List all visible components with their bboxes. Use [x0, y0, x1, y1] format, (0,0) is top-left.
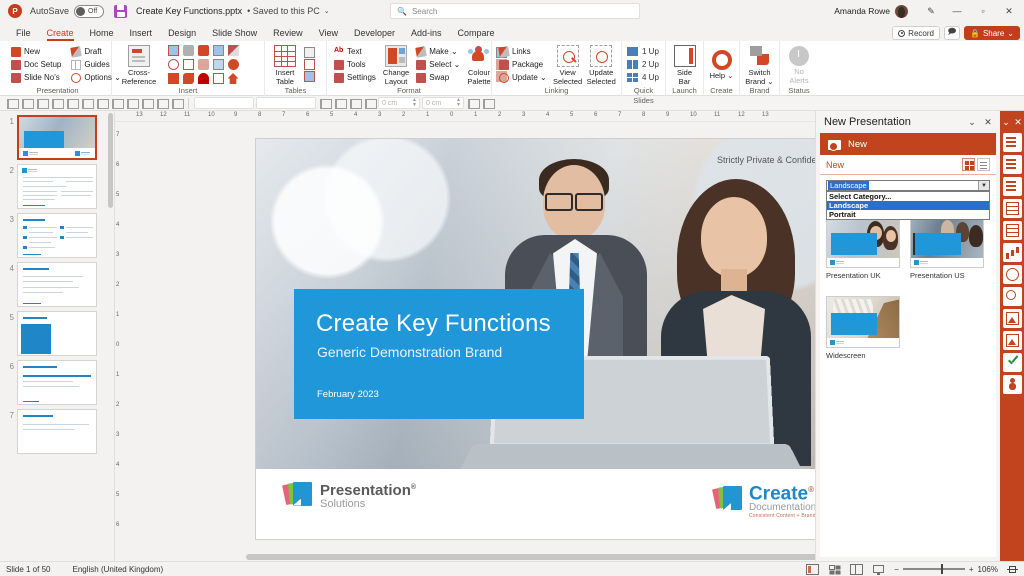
button-new-label: New [24, 47, 40, 56]
ruler-tick: 5 [330, 112, 333, 118]
ribbon-group-insert: Cross-Reference [112, 41, 265, 96]
two-up-icon [627, 60, 638, 69]
indent-icon[interactable] [318, 97, 331, 109]
reading-view-icon[interactable] [850, 564, 863, 575]
new-doc-icon [828, 138, 842, 151]
zoom-slider-handle[interactable] [941, 564, 943, 574]
template-caption: Presentation US [910, 271, 984, 280]
make-icon [415, 46, 427, 58]
task-pane-section-label: New [826, 160, 960, 170]
tab-view[interactable]: View [311, 28, 346, 41]
search-icon: 🔍 [397, 7, 407, 16]
thumbnail-scrollbar-thumb[interactable] [108, 113, 113, 208]
button-insert-table[interactable]: Insert Table [270, 43, 300, 86]
horizontal-scrollbar-thumb[interactable] [246, 554, 815, 560]
template-title-block [831, 313, 877, 335]
create-wordmark: Create® Documentation Consistent Content… [749, 481, 815, 519]
insert-screenshot-icon[interactable] [213, 59, 224, 70]
tab-slide-show[interactable]: Slide Show [204, 28, 265, 41]
spacing-h-value: 0 cm [382, 100, 397, 107]
thumbnail-logo-left-icon [23, 151, 39, 156]
tab-add-ins[interactable]: Add-ins [403, 28, 450, 41]
language-indicator[interactable]: English (United Kingdom) [72, 565, 163, 574]
ribbon-display-options-icon[interactable]: ✎ [918, 0, 944, 22]
zoom-slider[interactable] [903, 568, 965, 569]
logo-right-line3: Consistent Content + Branding [749, 513, 815, 519]
ruler-tick: 10 [208, 112, 215, 118]
button-switch-brand[interactable]: Switch Brand ⌄ [745, 43, 774, 86]
dropdown-option-landscape[interactable]: Landscape [827, 201, 989, 210]
button-1-up-label: 1 Up [642, 47, 659, 56]
woman-head [701, 197, 767, 277]
laptop-keyboard [458, 444, 804, 469]
button-swap[interactable]: Swap [414, 72, 462, 84]
ribbon-group-brand: Switch Brand ⌄ Brand [740, 41, 780, 96]
insert-home-icon[interactable] [228, 73, 239, 84]
text-icon: Ab [334, 47, 344, 57]
insert-calendar-icon[interactable] [213, 73, 224, 84]
ruler-tick: 7 [282, 112, 285, 118]
settings-icon [334, 73, 344, 83]
button-no-alerts: No Alerts [785, 44, 813, 85]
ruler-tick: 8 [258, 112, 261, 118]
slide-canvas[interactable]: Strictly Private & Confidential Create K… [126, 122, 815, 561]
ribbon-group-status-label: Status [785, 86, 813, 96]
title-placeholder[interactable]: Create Key Functions Generic Demonstrati… [294, 289, 584, 419]
slide-numbers-icon [11, 73, 21, 83]
ruler-tick: 4 [546, 112, 549, 118]
thumbnail-item-5[interactable]: 5 [0, 307, 114, 356]
alerts-clock-icon [789, 46, 809, 66]
create-documentation-logo: Create® Documentation Consistent Content… [714, 481, 815, 519]
tab-insert[interactable]: Insert [122, 28, 161, 41]
grid-icon[interactable] [1003, 221, 1022, 240]
button-slide-numbers[interactable]: Slide No's [9, 72, 63, 84]
ruler-tick: 2 [116, 282, 119, 288]
ruler-tick: 1 [116, 372, 119, 378]
thumbnail-slide-1[interactable] [17, 115, 97, 160]
link-tool-icon[interactable] [466, 97, 479, 109]
zoom-control: − + 106% [894, 565, 998, 574]
approve-icon[interactable] [1003, 353, 1022, 372]
ruler-tick: 12 [738, 112, 745, 118]
doc-setup-icon [11, 60, 21, 70]
logo-left-line1: Presentation® [320, 481, 416, 498]
fit-slide-icon[interactable] [1007, 564, 1018, 575]
comment-icon: 🗩 [948, 26, 957, 40]
pie-icon[interactable] [1003, 265, 1022, 284]
autosave-toggle[interactable]: Off [74, 5, 104, 18]
search-placeholder: Search [412, 7, 437, 16]
document-name[interactable]: Create Key Functions.pptx [136, 6, 242, 16]
ruler-tick: 11 [184, 112, 190, 118]
insert-icon-gallery [166, 44, 240, 85]
bars-icon[interactable] [1003, 133, 1022, 152]
table-style-icon[interactable] [304, 47, 315, 58]
button-4-up-label: 4 Up [642, 73, 659, 82]
ruler-tick: 6 [116, 162, 119, 168]
button-cross-reference-label: Cross-Reference [117, 69, 161, 86]
button-tools[interactable]: Tools [332, 59, 378, 71]
thumbnail-number: 7 [4, 409, 14, 420]
button-update[interactable]: Update ⌄ [497, 72, 549, 84]
share-label: Share [983, 29, 1004, 38]
tab-home[interactable]: Home [82, 28, 122, 41]
one-up-icon [627, 47, 638, 56]
document-menu-caret-icon[interactable]: ⌄ [324, 7, 330, 15]
ribbon-group-presentation: New Doc Setup Slide No's Draft [4, 41, 112, 96]
task-pane-body: New Landscape ▼ Select Category... Lands… [820, 155, 996, 557]
ribbon-group-quick-slides: 1 Up 2 Up 4 Up Quick Slides [622, 41, 666, 96]
presentation-solutions-wordmark: Presentation® Solutions [320, 481, 416, 510]
draft-icon [71, 46, 83, 58]
autosave-state: Off [88, 8, 97, 15]
ribbon-group-insert-label: Insert [117, 86, 259, 96]
update-icon [499, 73, 509, 83]
table-icon[interactable] [1003, 199, 1022, 218]
thumbnail-number: 6 [4, 360, 14, 371]
tab-compare[interactable]: Compare [450, 28, 503, 41]
ribbon: New Doc Setup Slide No's Draft [0, 41, 1024, 96]
table-tool-icon[interactable] [348, 97, 361, 109]
ribbon-group-format-label: Format [332, 86, 486, 96]
record-button[interactable]: Record [892, 26, 940, 40]
maximize-button[interactable]: ▫ [970, 0, 996, 22]
copy-tool-icon[interactable] [481, 97, 494, 109]
align-top-icon[interactable] [50, 97, 63, 109]
normal-view-icon[interactable] [806, 564, 819, 575]
current-slide[interactable]: Strictly Private & Confidential Create K… [256, 139, 815, 539]
template-thumbnail[interactable] [826, 296, 900, 348]
insert-warning-icon[interactable] [228, 59, 239, 70]
button-update-selected[interactable]: Update Selected [586, 43, 616, 86]
template-logo-icon [830, 340, 844, 345]
slide-thumbnail-pane[interactable]: 1 2 [0, 111, 115, 561]
style-combo-1[interactable] [194, 97, 254, 109]
task-pane-new-band[interactable]: New [820, 133, 996, 155]
horizontal-ruler[interactable]: 13 12 11 10 9 8 7 6 5 4 3 2 1 0 1 2 3 4 … [115, 111, 815, 122]
task-pane-subheader: New [820, 155, 996, 175]
chart-icon[interactable] [1003, 243, 1022, 262]
insert-heart-icon[interactable] [198, 73, 209, 84]
button-2-up[interactable]: 2 Up [627, 59, 659, 71]
toggle-knob [76, 7, 85, 16]
insert-symbol-icon[interactable] [168, 59, 179, 70]
template-presentation-uk[interactable]: Presentation UK [826, 216, 900, 280]
tab-design[interactable]: Design [160, 28, 204, 41]
zoom-level[interactable]: 106% [978, 565, 998, 574]
thumbnail-number: 3 [4, 213, 14, 224]
button-make-label: Make ⌄ [429, 47, 458, 56]
grid-view-icon[interactable] [962, 158, 975, 171]
slide-subtitle[interactable]: Generic Demonstration Brand [317, 344, 502, 360]
button-select[interactable]: Select ⌄ [414, 59, 462, 71]
table-add-row-icon[interactable] [304, 59, 315, 70]
logo-right-line1-text: Create [749, 483, 808, 504]
insert-chart-icon[interactable] [168, 73, 179, 84]
tabbar-right-actions: Record 🗩 🔒 Share ⌄ [892, 26, 1020, 40]
thumbnail-item-2[interactable]: 2 [0, 160, 114, 209]
slideshow-icon[interactable] [872, 564, 885, 575]
thumbnail-item-6[interactable]: 6 [0, 356, 114, 405]
template-thumbnail[interactable] [910, 216, 984, 268]
share-button[interactable]: 🔒 Share ⌄ [964, 26, 1020, 40]
snap-icon[interactable] [333, 97, 346, 109]
button-view-selected-label: View Selected [553, 69, 583, 86]
zoom-out-button[interactable]: − [894, 565, 899, 574]
slide-sorter-icon[interactable] [828, 564, 841, 575]
save-icon[interactable] [114, 5, 127, 18]
style-combo-2[interactable] [256, 97, 316, 109]
template-logo-icon [830, 260, 844, 265]
thumbnail-slide-3[interactable] [17, 213, 97, 258]
button-help[interactable]: Help ⌄ [709, 48, 734, 81]
thumbnail-logo-right-icon [75, 151, 91, 156]
zoom-in-button[interactable]: + [969, 565, 974, 574]
logo-right-line2: Documentation [749, 502, 815, 513]
align-left-icon[interactable] [5, 97, 18, 109]
thumbnail-slide-5[interactable] [17, 311, 97, 356]
category-dropdown-list[interactable]: Select Category... Landscape Portrait [826, 191, 990, 220]
ribbon-group-format: Ab Text Tools Settings Change Layout [327, 41, 492, 96]
image-icon[interactable] [1003, 309, 1022, 328]
insert-object-icon[interactable] [198, 45, 209, 56]
button-make[interactable]: Make ⌄ [414, 46, 462, 58]
thumbnail-scrollbar[interactable] [107, 111, 114, 561]
button-switch-brand-label: Switch Brand ⌄ [745, 69, 774, 86]
button-help-label: Help ⌄ [710, 72, 734, 81]
button-settings[interactable]: Settings [332, 72, 378, 84]
align-right-icon[interactable] [35, 97, 48, 109]
template-gallery: Presentation UK [820, 210, 996, 557]
template-caption: Presentation UK [826, 271, 900, 280]
logo-right-line1: Create® [749, 481, 815, 502]
ruler-tick: 2 [116, 402, 119, 408]
titlebar-right: Amanda Rowe ✎ — ▫ ✕ [834, 0, 1022, 22]
tab-create[interactable]: Create [39, 28, 82, 41]
button-update-label: Update ⌄ [512, 73, 547, 82]
horizontal-scrollbar[interactable] [126, 553, 815, 561]
button-view-selected[interactable]: View Selected [553, 43, 583, 86]
guides-icon [71, 60, 81, 70]
ribbon-tabs: File Create Home Insert Design Slide Sho… [0, 22, 1024, 41]
template-widescreen[interactable]: Widescreen [826, 296, 900, 360]
thumbnail-slide-7[interactable] [17, 409, 97, 454]
ruler-tick: 2 [402, 112, 405, 118]
chevron-down-icon[interactable]: ▼ [978, 181, 989, 190]
button-draft-label: Draft [84, 47, 101, 56]
tools-icon [334, 60, 344, 70]
autosave-label: AutoSave [30, 6, 69, 16]
view-selected-icon [557, 45, 579, 67]
ruler-tick: 3 [116, 252, 119, 258]
button-text[interactable]: Ab Text [332, 46, 378, 58]
button-colour-palette[interactable]: Colour Palette [467, 43, 490, 86]
task-pane-header: New Presentation ⌄ ✕ [816, 111, 1000, 133]
avatar[interactable] [895, 5, 908, 18]
alignment-toolbar: 0 cm ▲▼ 0 cm ▲▼ [0, 96, 1024, 111]
button-cross-reference[interactable]: Cross-Reference [117, 43, 161, 86]
ribbon-group-status: No Alerts Status [780, 41, 818, 96]
picture-icon[interactable] [1003, 331, 1022, 350]
thumbnail-slide-4[interactable] [17, 262, 97, 307]
minimize-button[interactable]: — [944, 0, 970, 22]
list-icon[interactable] [1003, 155, 1022, 174]
spacing-h-spinner-icon[interactable]: ▲▼ [412, 98, 417, 108]
template-thumbnail[interactable] [826, 216, 900, 268]
ribbon-group-quick-slides-label: Quick Slides [627, 86, 660, 96]
title-bar: P AutoSave Off Create Key Functions.pptx… [0, 0, 1024, 22]
people-icon[interactable] [1003, 375, 1022, 394]
button-package-label: Package [512, 60, 543, 69]
ruler-tick: 8 [642, 112, 645, 118]
button-no-alerts-label: No Alerts [785, 68, 813, 85]
save-status: • Saved to this PC [247, 6, 320, 16]
create-mark-icon [714, 486, 744, 514]
ruler-tick: 6 [116, 522, 119, 528]
search-icon[interactable] [1003, 287, 1022, 306]
thumbnail-item-1[interactable]: 1 [0, 111, 114, 160]
button-doc-setup[interactable]: Doc Setup [9, 59, 63, 71]
button-links-label: Links [512, 47, 531, 56]
user-name[interactable]: Amanda Rowe [834, 6, 890, 16]
tab-developer[interactable]: Developer [346, 28, 403, 41]
button-side-bar[interactable]: Side Bar [671, 43, 698, 86]
group-icon[interactable] [140, 97, 153, 109]
slide-date[interactable]: February 2023 [317, 389, 379, 400]
ruler-tick: 11 [714, 112, 720, 118]
button-4-up[interactable]: 4 Up [627, 72, 659, 84]
side-bar-icon [674, 45, 696, 67]
package-icon [499, 60, 509, 70]
spacing-h-input[interactable]: 0 cm ▲▼ [378, 97, 420, 109]
chevron-down-icon[interactable]: ⌄ [964, 114, 980, 130]
new-presentation-pane: New Presentation ⌄ ✕ New New Landscape ▼ [815, 111, 1000, 561]
ruler-tick: 10 [690, 112, 697, 118]
insert-arrow-icon[interactable] [183, 73, 194, 84]
button-side-bar-label: Side Bar [671, 69, 698, 86]
insert-bullets-icon[interactable] [183, 59, 194, 70]
button-settings-label: Settings [347, 73, 376, 82]
ruler-tick: 3 [116, 432, 119, 438]
sidebar-window-controls: ⌄ ✕ [1000, 114, 1024, 130]
insert-pen-icon[interactable] [228, 45, 239, 56]
update-selected-icon [590, 45, 612, 67]
ruler-tick: 7 [618, 112, 621, 118]
checklist-icon[interactable] [1003, 177, 1022, 196]
spacing-v-spinner-icon[interactable]: ▲▼ [456, 98, 461, 108]
template-title-block [915, 233, 961, 255]
category-select[interactable]: Landscape ▼ [826, 180, 990, 191]
create-sidebar-toolbar: ⌄ ✕ [1000, 111, 1024, 561]
ungroup-icon[interactable] [155, 97, 168, 109]
insert-shape-icon[interactable] [198, 59, 209, 70]
change-layout-icon [385, 45, 407, 67]
button-links[interactable]: Links [497, 46, 549, 58]
close-icon[interactable]: ✕ [980, 114, 996, 130]
thumbnail-item-3[interactable]: 3 [0, 209, 114, 258]
order-icon[interactable] [170, 97, 183, 109]
button-1-up[interactable]: 1 Up [627, 46, 659, 58]
button-package[interactable]: Package [497, 59, 549, 71]
close-icon[interactable]: ✕ [1014, 117, 1022, 128]
format-painter-icon[interactable] [125, 97, 138, 109]
dropdown-option-portrait[interactable]: Portrait [827, 210, 989, 219]
insert-image-icon[interactable] [213, 45, 224, 56]
button-tools-label: Tools [347, 60, 366, 69]
spacing-v-input[interactable]: 0 cm ▲▼ [422, 97, 464, 109]
ruler-tick: 7 [116, 132, 119, 138]
ruler-tick: 1 [426, 112, 429, 118]
distribute-vertical-icon[interactable] [110, 97, 123, 109]
align-center-icon[interactable] [20, 97, 33, 109]
chevron-down-icon[interactable]: ⌄ [1002, 117, 1010, 128]
insert-picture-icon[interactable] [168, 45, 179, 56]
vertical-ruler[interactable]: 7 6 5 4 3 2 1 0 1 2 3 4 5 6 [115, 122, 126, 561]
button-insert-table-label: Insert Table [270, 69, 300, 86]
category-selected-value: Landscape [828, 181, 869, 190]
presentation-solutions-logo: Presentation® Solutions [284, 481, 416, 510]
toolbar-separator [188, 98, 189, 109]
thumbnail-slide-6[interactable] [17, 360, 97, 405]
share-lock-icon: 🔒 [970, 29, 980, 38]
colour-tool-icon[interactable] [363, 97, 376, 109]
slide-counter[interactable]: Slide 1 of 50 [6, 565, 50, 574]
thumbnail-title-block [24, 131, 64, 148]
button-2-up-label: 2 Up [642, 60, 659, 69]
ruler-tick: 5 [116, 492, 119, 498]
insert-table-icon [274, 45, 296, 67]
insert-clipart-icon[interactable] [183, 45, 194, 56]
search-input[interactable]: 🔍 Search [390, 3, 640, 19]
button-guides-label: Guides [84, 60, 109, 69]
thumbnail-item-4[interactable]: 4 [0, 258, 114, 307]
slide-title[interactable]: Create Key Functions [316, 311, 551, 337]
tab-file[interactable]: File [8, 28, 39, 41]
share-caret-icon: ⌄ [1007, 29, 1014, 38]
distribute-horizontal-icon[interactable] [95, 97, 108, 109]
dropdown-option-select-category[interactable]: Select Category... [827, 192, 989, 201]
ruler-tick: 1 [474, 112, 477, 118]
list-view-icon[interactable] [977, 158, 990, 171]
button-select-label: Select ⌄ [429, 60, 460, 69]
colour-palette-icon [468, 45, 490, 67]
logo-left-line1-text: Presentation [320, 482, 411, 499]
switch-brand-icon [749, 45, 771, 67]
table-format-icon[interactable] [304, 71, 315, 82]
links-icon [498, 46, 510, 58]
glasses-icon [543, 193, 605, 207]
tab-review[interactable]: Review [265, 28, 311, 41]
category-selector-area: Landscape ▼ Select Category... Landscape… [820, 175, 996, 191]
align-middle-icon[interactable] [65, 97, 78, 109]
button-new[interactable]: New [9, 46, 63, 58]
ribbon-group-tables: Insert Table Tables [265, 41, 327, 96]
template-presentation-us[interactable]: Presentation US [910, 216, 984, 280]
logo-left-registered: ® [411, 484, 416, 491]
thumbnail-slide-2[interactable] [17, 164, 97, 209]
comments-button[interactable]: 🗩 [944, 26, 960, 40]
button-change-layout[interactable]: Change Layout [383, 43, 409, 86]
confidentiality-text[interactable]: Strictly Private & Confidential [717, 155, 815, 165]
swap-icon [416, 73, 426, 83]
logo-right-registered: ® [808, 485, 814, 494]
close-button[interactable]: ✕ [996, 0, 1022, 22]
ruler-tick: 2 [498, 112, 501, 118]
align-bottom-icon[interactable] [80, 97, 93, 109]
ribbon-group-launch: Side Bar Launch [666, 41, 704, 96]
thumbnail-item-7[interactable]: 7 [0, 405, 114, 454]
